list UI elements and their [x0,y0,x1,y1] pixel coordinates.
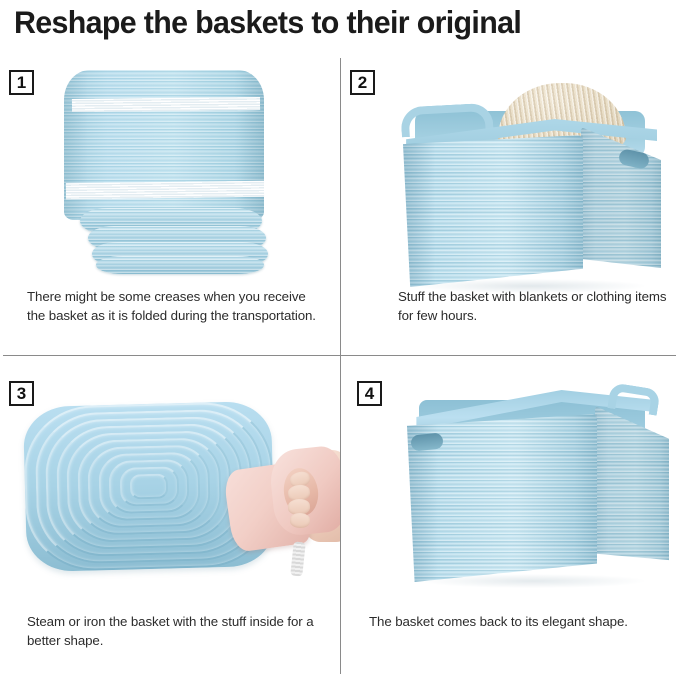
page-title: Reshape the baskets to their original [14,2,646,44]
step-caption-1: There might be some creases when you rec… [27,288,317,325]
basket-front-face [403,135,583,287]
steamer-cord [290,541,305,576]
step-caption-3: Steam or iron the basket with the stuff … [27,613,317,650]
folded-basket-white-stripe-upper [72,97,260,112]
restored-basket-illustration [393,386,669,596]
basket-side-face [581,127,661,277]
basket-side-face [595,406,669,570]
step-badge-4: 4 [357,381,382,406]
step-badge-3: 3 [9,381,34,406]
folded-basket-white-stripe-lower [66,181,264,199]
step-panel-1: 1 There might be some creases when you r… [0,58,340,355]
steamer-illustration [228,444,340,574]
folded-basket-illustration [62,70,267,270]
step-panel-3: 3 Steam or iron the basket with the stuf… [0,356,340,676]
step-badge-2: 2 [350,70,375,95]
rope-coil-ring [130,474,169,500]
step-panel-2: 2 Stuff the basket with blankets or clot… [341,58,679,355]
step-badge-1: 1 [9,70,34,95]
step-panel-4: 4 The basket comes back to its elegant s… [341,356,679,676]
step-caption-2: Stuff the basket with blankets or clothi… [398,288,668,325]
finger [290,513,311,529]
folded-basket-layer-4 [96,256,264,274]
step-caption-4: The basket comes back to its elegant sha… [369,613,679,632]
stuffed-basket-illustration [393,83,665,298]
